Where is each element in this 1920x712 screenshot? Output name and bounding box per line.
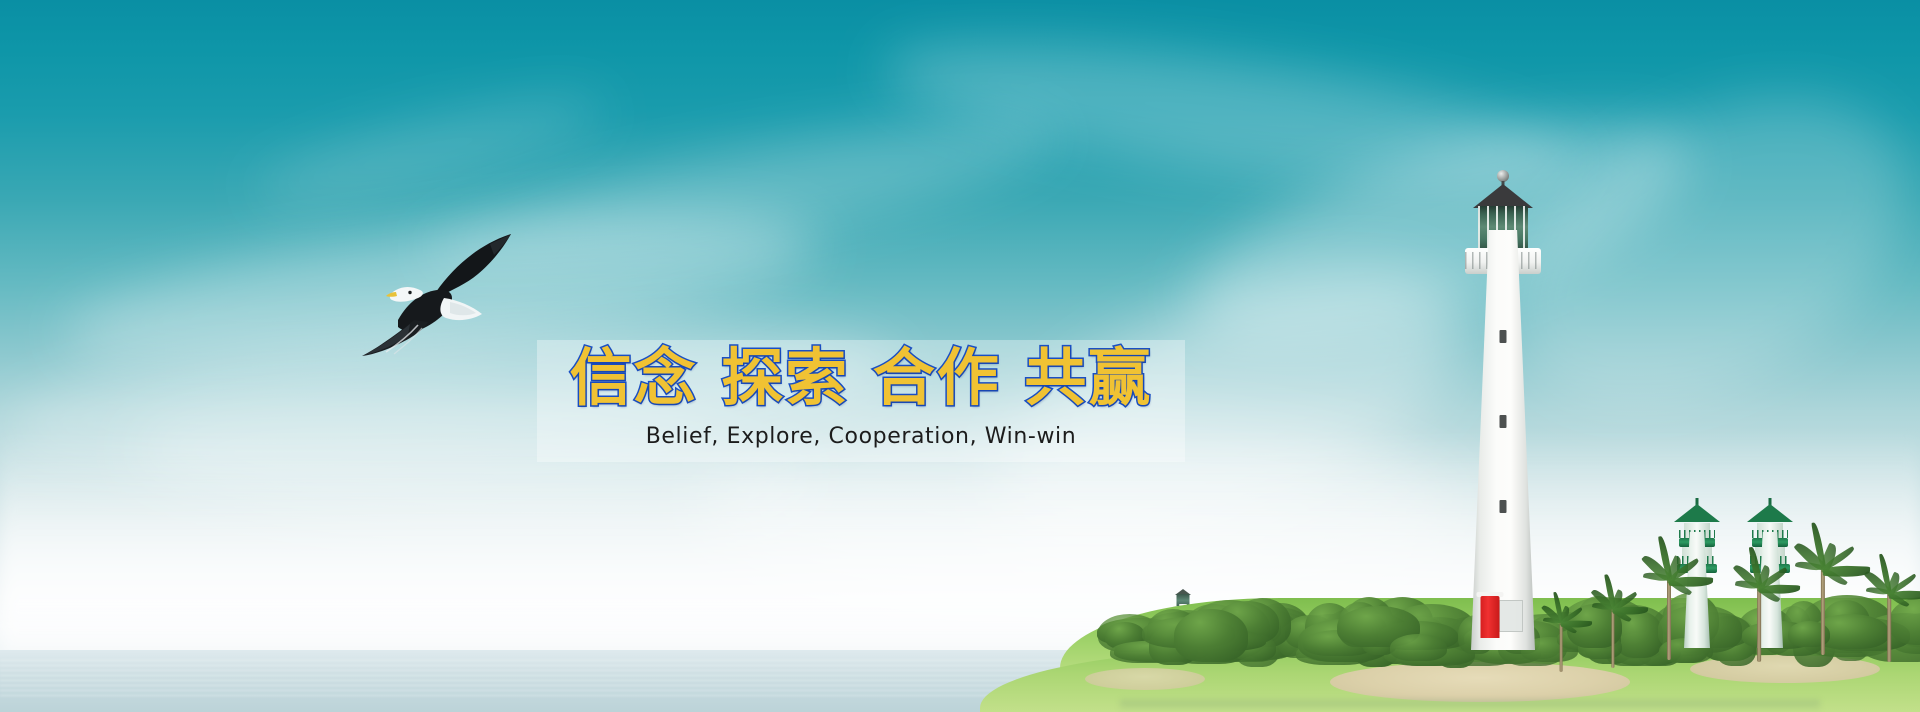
sand-bunker: [1330, 662, 1630, 702]
sand-bunker: [1085, 668, 1205, 690]
water-reflection: [1120, 700, 1820, 712]
lighthouse-finial: [1497, 170, 1509, 182]
twin-tower-right: [1745, 520, 1795, 648]
lighthouse-window: [1500, 500, 1507, 513]
banner-stage: 信念 探索 合作 共赢 Belief, Explore, Cooperation…: [0, 0, 1920, 712]
shrub: [1174, 609, 1248, 662]
lighthouse-red-door: [1481, 596, 1500, 638]
twin-tower-left: [1672, 520, 1722, 648]
lighthouse-window: [1500, 330, 1507, 343]
lighthouse-window: [1500, 415, 1507, 428]
lighthouse-info-plate: [1499, 600, 1523, 632]
lighthouse-roof: [1473, 184, 1533, 208]
shrub: [1889, 597, 1920, 645]
slogan-panel: 信念 探索 合作 共赢 Belief, Explore, Cooperation…: [537, 340, 1185, 462]
main-lighthouse-icon: [1438, 170, 1568, 650]
bald-eagle-icon: [340, 228, 530, 363]
lighthouse-tower: [1471, 230, 1535, 650]
slogan-subline-english: Belief, Explore, Cooperation, Win-win: [646, 424, 1077, 449]
slogan-headline-chinese: 信念 探索 合作 共赢: [570, 346, 1153, 410]
shrub: [1567, 604, 1622, 648]
